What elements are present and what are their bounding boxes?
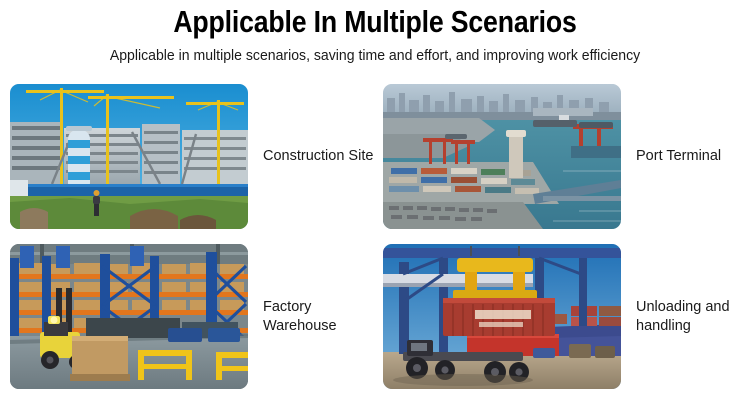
scenario-label: Construction Site [263,147,373,166]
scenario-card-construction-site[interactable]: Construction Site [10,84,383,229]
construction-site-photo [10,84,248,229]
factory-warehouse-photo [10,244,248,389]
port-terminal-photo [383,84,621,229]
page-subtitle: Applicable in multiple scenarios, saving… [11,47,739,65]
scenario-card-unloading-and-handling[interactable]: Unloading and handling [383,244,740,389]
page-title: Applicable In Multiple Scenarios [53,5,698,39]
unloading-handling-photo [383,244,621,389]
scenario-grid: Construction Site [10,84,740,389]
scenario-card-factory-warehouse[interactable]: Factory Warehouse [10,244,383,389]
scenario-label: Port Terminal [636,147,721,166]
scenario-label: Unloading and handling [636,298,740,336]
scenario-label: Factory Warehouse [263,298,381,336]
page-header: Applicable In Multiple Scenarios Applica… [0,0,750,65]
scenarios-page: Applicable In Multiple Scenarios Applica… [0,0,750,400]
scenario-card-port-terminal[interactable]: Port Terminal [383,84,740,229]
